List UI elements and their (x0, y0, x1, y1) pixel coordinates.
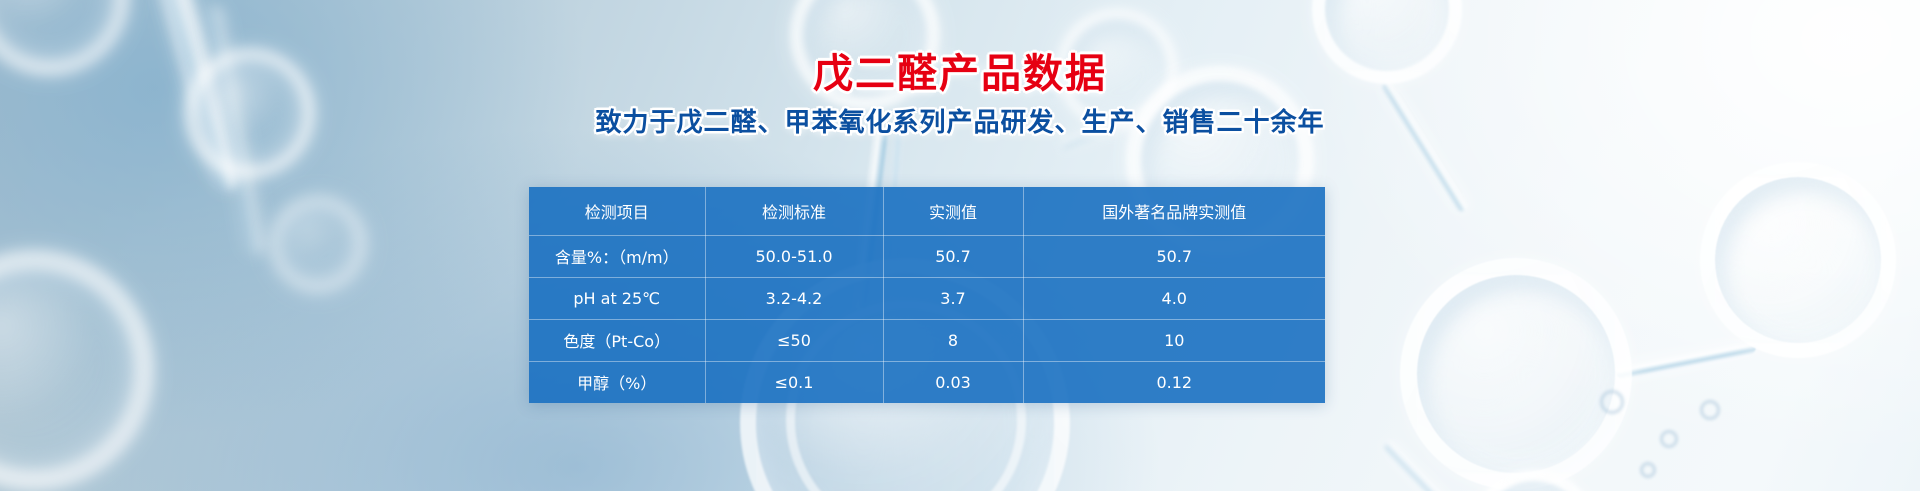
cell-test-item: pH at 25℃ (529, 277, 705, 319)
column-header-test-item: 检测项目 (529, 187, 705, 235)
table-row: 甲醇（%） ≤0.1 0.03 0.12 (529, 361, 1325, 403)
bokeh-dot-icon (1640, 462, 1656, 478)
column-header-test-standard: 检测标准 (705, 187, 883, 235)
molecule-bond-icon (1615, 339, 1757, 381)
column-header-measured: 实测值 (883, 187, 1023, 235)
cell-test-item: 甲醇（%） (529, 361, 705, 403)
cell-measured: 3.7 (883, 277, 1023, 319)
table-body: 含量%：（m/m） 50.0-51.0 50.7 50.7 pH at 25℃ … (529, 235, 1325, 403)
blurred-molecule-ring-icon (0, 250, 154, 490)
cell-measured: 8 (883, 319, 1023, 361)
bokeh-dot-icon (1700, 400, 1720, 420)
product-data-banner: 戊二醛产品数据 致力于戊二醛、甲苯氧化系列产品研发、生产、销售二十余年 检测项目… (0, 0, 1920, 491)
cell-test-standard: ≤0.1 (705, 361, 883, 403)
table-row: 含量%：（m/m） 50.0-51.0 50.7 50.7 (529, 235, 1325, 277)
molecule-ring-icon (1470, 470, 1598, 491)
cell-test-standard: ≤50 (705, 319, 883, 361)
table-row: pH at 25℃ 3.2-4.2 3.7 4.0 (529, 277, 1325, 319)
table-header-row: 检测项目 检测标准 实测值 国外著名品牌实测值 (529, 187, 1325, 235)
cell-foreign-brand: 10 (1023, 319, 1325, 361)
page-title: 戊二醛产品数据 (0, 52, 1920, 97)
spec-table-container: 检测项目 检测标准 实测值 国外著名品牌实测值 含量%：（m/m） 50.0-5… (529, 187, 1325, 403)
cell-measured: 50.7 (883, 235, 1023, 277)
molecule-ring-icon (1700, 162, 1896, 358)
blurred-molecule-ring-icon (270, 196, 366, 292)
cell-test-item: 色度（Pt-Co） (529, 319, 705, 361)
bokeh-dot-icon (1660, 430, 1678, 448)
product-spec-table: 检测项目 检测标准 实测值 国外著名品牌实测值 含量%：（m/m） 50.0-5… (529, 187, 1325, 403)
cell-measured: 0.03 (883, 361, 1023, 403)
column-header-foreign-brand: 国外著名品牌实测值 (1023, 187, 1325, 235)
banner-heading-group: 戊二醛产品数据 致力于戊二醛、甲苯氧化系列产品研发、生产、销售二十余年 (0, 52, 1920, 139)
table-row: 色度（Pt-Co） ≤50 8 10 (529, 319, 1325, 361)
cell-foreign-brand: 0.12 (1023, 361, 1325, 403)
molecule-ring-icon (1400, 258, 1632, 490)
bokeh-dot-icon (1600, 390, 1624, 414)
molecule-bond-icon (1382, 439, 1457, 491)
table-header: 检测项目 检测标准 实测值 国外著名品牌实测值 (529, 187, 1325, 235)
cell-foreign-brand: 4.0 (1023, 277, 1325, 319)
page-subtitle: 致力于戊二醛、甲苯氧化系列产品研发、生产、销售二十余年 (0, 108, 1920, 139)
cell-test-standard: 50.0-51.0 (705, 235, 883, 277)
cell-test-item: 含量%：（m/m） (529, 235, 705, 277)
cell-foreign-brand: 50.7 (1023, 235, 1325, 277)
cell-test-standard: 3.2-4.2 (705, 277, 883, 319)
